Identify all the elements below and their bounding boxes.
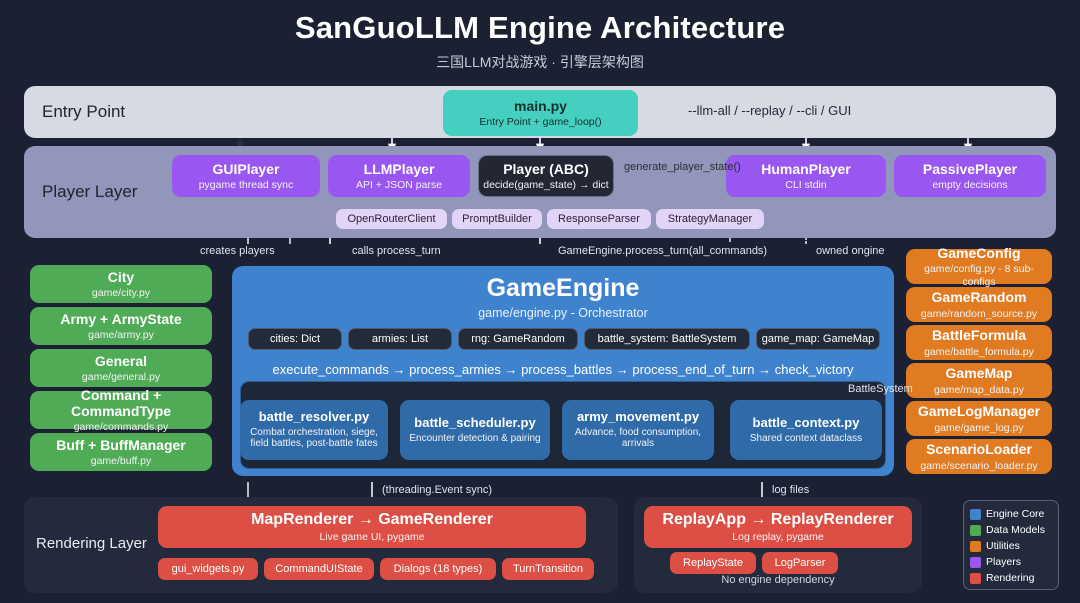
- legend-label: Utilities: [986, 540, 1020, 552]
- entry-point-layer-label: Entry Point: [42, 102, 125, 122]
- chip-armies-list[interactable]: armies: List: [348, 328, 452, 350]
- node-general[interactable]: General game/general.py: [30, 349, 212, 387]
- node-title: main.py: [514, 98, 567, 114]
- legend-label: Engine Core: [986, 508, 1044, 520]
- legend-swatch-players: [970, 557, 981, 568]
- node-title: battle_resolver.py: [259, 410, 370, 425]
- annotation-battlesystem: BattleSystem: [848, 383, 913, 395]
- player-layer-label: Player Layer: [42, 182, 137, 202]
- chip-commanduistate[interactable]: CommandUIState: [264, 558, 374, 580]
- node-maprenderer-gamerenderer[interactable]: MapRenderer → GameRenderer Live game UI,…: [158, 506, 586, 548]
- node-gameconfig[interactable]: GameConfig game/config.py - 8 sub-config…: [906, 249, 1052, 284]
- node-title: General: [95, 353, 147, 369]
- node-subtitle: API + JSON parse: [356, 179, 442, 191]
- node-title: GameConfig: [937, 245, 1020, 261]
- chip-turntransition[interactable]: TurnTransition: [502, 558, 594, 580]
- node-title: battle_context.py: [753, 416, 860, 431]
- node-title: army_movement.py: [577, 410, 699, 425]
- chip-game-map[interactable]: game_map: GameMap: [756, 328, 880, 350]
- node-title: HumanPlayer: [761, 161, 850, 177]
- node-title: ScenarioLoader: [926, 441, 1032, 457]
- gameengine-subtitle: game/engine.py - Orchestrator: [232, 306, 894, 320]
- node-player-abc[interactable]: Player (ABC) decide(game_state) → dict: [478, 155, 614, 197]
- chip-promptbuilder[interactable]: PromptBuilder: [452, 209, 542, 229]
- legend-label: Data Models: [986, 524, 1045, 536]
- chip-battle-system[interactable]: battle_system: BattleSystem: [584, 328, 750, 350]
- node-title: GameRandom: [932, 289, 1027, 305]
- gameengine-flow-text: execute_commands → process_armies → proc…: [232, 362, 894, 377]
- legend-item-utilities: Utilities: [970, 538, 1053, 554]
- chip-dialogs[interactable]: Dialogs (18 types): [380, 558, 496, 580]
- node-main-py[interactable]: main.py Entry Point + game_loop(): [443, 90, 638, 136]
- node-subtitle: game/buff.py: [91, 455, 152, 467]
- chip-replaystate[interactable]: ReplayState: [670, 552, 756, 574]
- node-title: GameMap: [946, 365, 1013, 381]
- node-subtitle: decide(game_state) → dict: [483, 179, 608, 191]
- node-army-armystate[interactable]: Army + ArmyState game/army.py: [30, 307, 212, 345]
- node-subtitle: game/map_data.py: [934, 384, 1024, 396]
- legend-swatch-utilities: [970, 541, 981, 552]
- node-title: LLMPlayer: [364, 161, 435, 177]
- node-subtitle: Log replay, pygame: [732, 531, 823, 543]
- annotation-log-files: log files: [772, 484, 809, 496]
- node-title: GameLogManager: [918, 403, 1040, 419]
- chip-strategymanager[interactable]: StrategyManager: [656, 209, 764, 229]
- node-command-commandtype[interactable]: Command + CommandType game/commands.py: [30, 391, 212, 429]
- node-subtitle: game/config.py - 8 sub-configs: [910, 263, 1048, 287]
- node-title: PassivePlayer: [923, 161, 1017, 177]
- node-title: City: [108, 269, 134, 285]
- legend-item-data-models: Data Models: [970, 522, 1053, 538]
- node-subtitle: game/battle_formula.py: [924, 346, 1034, 358]
- chip-cities-dict[interactable]: cities: Dict: [248, 328, 342, 350]
- legend-swatch-data-models: [970, 525, 981, 536]
- node-subtitle: game/commands.py: [74, 421, 169, 433]
- chip-responseparser[interactable]: ResponseParser: [547, 209, 651, 229]
- node-battle-resolver[interactable]: battle_resolver.py Combat orchestration,…: [240, 400, 388, 460]
- architecture-diagram: SanGuoLLM Engine Architecture 三国LLM对战游戏 …: [0, 0, 1080, 603]
- node-title: BattleFormula: [932, 327, 1026, 343]
- node-subtitle: game/general.py: [82, 371, 160, 383]
- node-subtitle: game/scenario_loader.py: [920, 460, 1037, 472]
- no-engine-dependency-note: No engine dependency: [634, 574, 922, 586]
- node-subtitle: empty decisions: [932, 179, 1007, 191]
- annotation-threading-event: (threading.Event sync): [382, 484, 492, 496]
- node-guiplayer[interactable]: GUIPlayer pygame thread sync: [172, 155, 320, 197]
- chip-logparser[interactable]: LogParser: [762, 552, 838, 574]
- annotation-calls-process-turn: calls process_turn: [352, 245, 441, 257]
- legend: Engine Core Data Models Utilities Player…: [963, 500, 1059, 590]
- page-title: SanGuoLLM Engine Architecture: [0, 10, 1080, 46]
- node-battle-context[interactable]: battle_context.py Shared context datacla…: [730, 400, 882, 460]
- node-title: battle_scheduler.py: [414, 416, 535, 431]
- node-subtitle: game/game_log.py: [934, 422, 1023, 434]
- annotation-owned-engine: owned ongine: [816, 245, 885, 257]
- gameengine-title: GameEngine: [232, 274, 894, 303]
- node-title: Player (ABC): [503, 161, 589, 177]
- node-gamelogmanager[interactable]: GameLogManager game/game_log.py: [906, 401, 1052, 436]
- node-city[interactable]: City game/city.py: [30, 265, 212, 303]
- chip-rng-gamerandom[interactable]: rng: GameRandom: [458, 328, 578, 350]
- node-title: ReplayApp → ReplayRenderer: [662, 511, 893, 529]
- node-passiveplayer[interactable]: PassivePlayer empty decisions: [894, 155, 1046, 197]
- legend-swatch-engine-core: [970, 509, 981, 520]
- node-subtitle: Combat orchestration, siege, field battl…: [244, 427, 384, 450]
- legend-label: Players: [986, 556, 1021, 568]
- node-subtitle: CLI stdin: [785, 179, 826, 191]
- legend-item-rendering: Rendering: [970, 570, 1053, 586]
- rendering-layer-label: Rendering Layer: [36, 535, 147, 552]
- node-subtitle: Encounter detection & pairing: [409, 433, 540, 445]
- node-battle-scheduler[interactable]: battle_scheduler.py Encounter detection …: [400, 400, 550, 460]
- node-gamemap[interactable]: GameMap game/map_data.py: [906, 363, 1052, 398]
- node-subtitle: game/city.py: [92, 287, 150, 299]
- node-army-movement[interactable]: army_movement.py Advance, food consumpti…: [562, 400, 714, 460]
- node-battleformula[interactable]: BattleFormula game/battle_formula.py: [906, 325, 1052, 360]
- legend-swatch-rendering: [970, 573, 981, 584]
- chip-openrouterclient[interactable]: OpenRouterClient: [336, 209, 447, 229]
- node-subtitle: Shared context dataclass: [750, 433, 862, 445]
- cli-flags-text: --llm-all / --replay / --cli / GUI: [688, 103, 851, 118]
- node-subtitle: game/random_source.py: [921, 308, 1037, 320]
- node-subtitle: Entry Point + game_loop(): [479, 116, 601, 128]
- node-subtitle: game/army.py: [88, 329, 154, 341]
- node-title: MapRenderer → GameRenderer: [251, 511, 493, 529]
- legend-item-players: Players: [970, 554, 1053, 570]
- node-subtitle: Advance, food consumption, arrivals: [566, 427, 710, 450]
- node-title: Command + CommandType: [34, 387, 208, 419]
- node-humanplayer[interactable]: HumanPlayer CLI stdin: [726, 155, 886, 197]
- chip-gui-widgets[interactable]: gui_widgets.py: [158, 558, 258, 580]
- page-subtitle: 三国LLM对战游戏 · 引擎层架构图: [0, 52, 1080, 72]
- legend-item-engine-core: Engine Core: [970, 506, 1053, 522]
- node-title: Buff + BuffManager: [56, 437, 186, 453]
- node-subtitle: Live game UI, pygame: [319, 531, 424, 543]
- annotation-generate-player-state: generate_player_state(): [624, 161, 741, 173]
- node-scenarioloader[interactable]: ScenarioLoader game/scenario_loader.py: [906, 439, 1052, 474]
- node-llmplayer[interactable]: LLMPlayer API + JSON parse: [328, 155, 470, 197]
- node-title: Army + ArmyState: [60, 311, 181, 327]
- annotation-process-turn-all-commands: GameEngine.process_turn(all_commands): [558, 245, 767, 257]
- node-buff-buffmanager[interactable]: Buff + BuffManager game/buff.py: [30, 433, 212, 471]
- annotation-creates-players: creates players: [200, 245, 275, 257]
- node-replayapp-replayrenderer[interactable]: ReplayApp → ReplayRenderer Log replay, p…: [644, 506, 912, 548]
- node-subtitle: pygame thread sync: [199, 179, 294, 191]
- node-title: GUIPlayer: [213, 161, 280, 177]
- legend-label: Rendering: [986, 572, 1034, 584]
- node-gamerandom[interactable]: GameRandom game/random_source.py: [906, 287, 1052, 322]
